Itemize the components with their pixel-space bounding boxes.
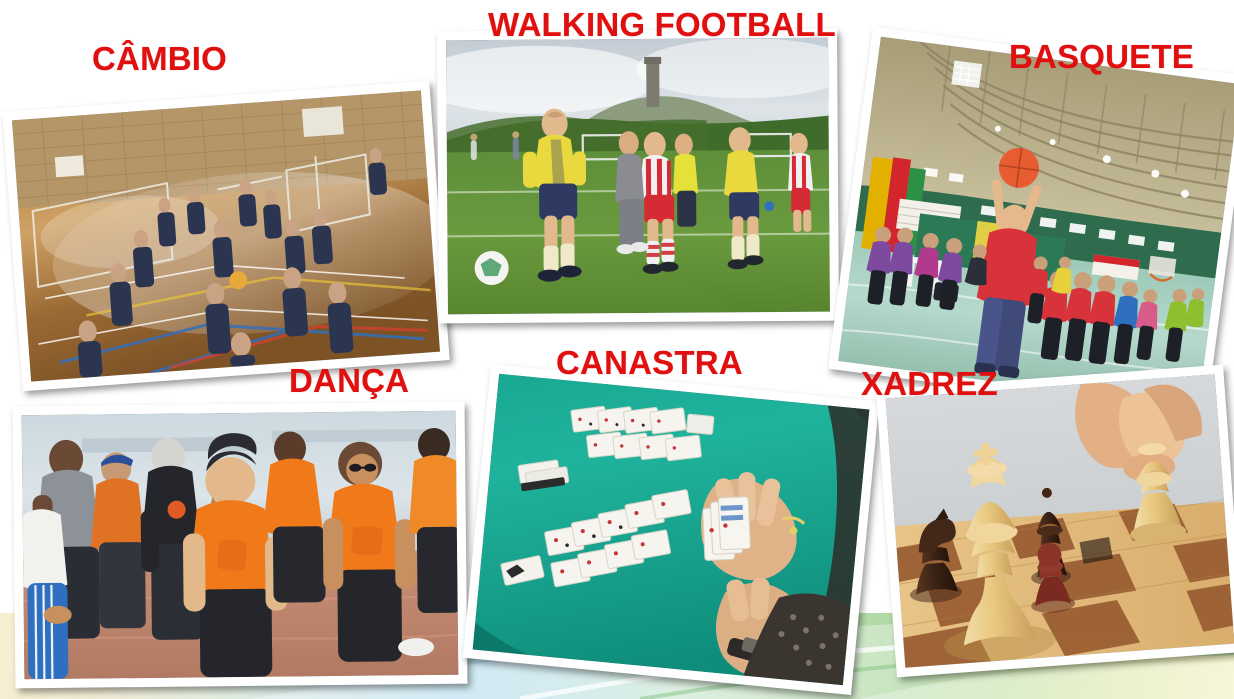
photo-walking-football <box>437 29 839 324</box>
photo-canastra <box>463 364 879 695</box>
photo-xadrez <box>876 365 1234 678</box>
photo-xadrez-image <box>886 374 1234 667</box>
caption-canastra: CANASTRA <box>556 344 743 382</box>
caption-walking-football: WALKING FOOTBALL <box>488 6 836 44</box>
photo-walking-football-image <box>446 38 830 315</box>
photo-danca-image <box>22 411 459 680</box>
caption-xadrez: XADREZ <box>861 365 998 403</box>
caption-basquete: BASQUETE <box>1009 38 1194 76</box>
photo-danca <box>13 402 468 689</box>
photo-cambio-image <box>12 90 440 381</box>
caption-cambio: CÂMBIO <box>92 40 227 78</box>
photo-canastra-image <box>473 374 870 685</box>
slide-canvas: CÂMBIO <box>0 0 1234 699</box>
caption-danca: DANÇA <box>289 362 409 400</box>
photo-basquete <box>828 27 1234 419</box>
photo-cambio <box>2 81 449 392</box>
photo-basquete-image <box>838 37 1234 409</box>
